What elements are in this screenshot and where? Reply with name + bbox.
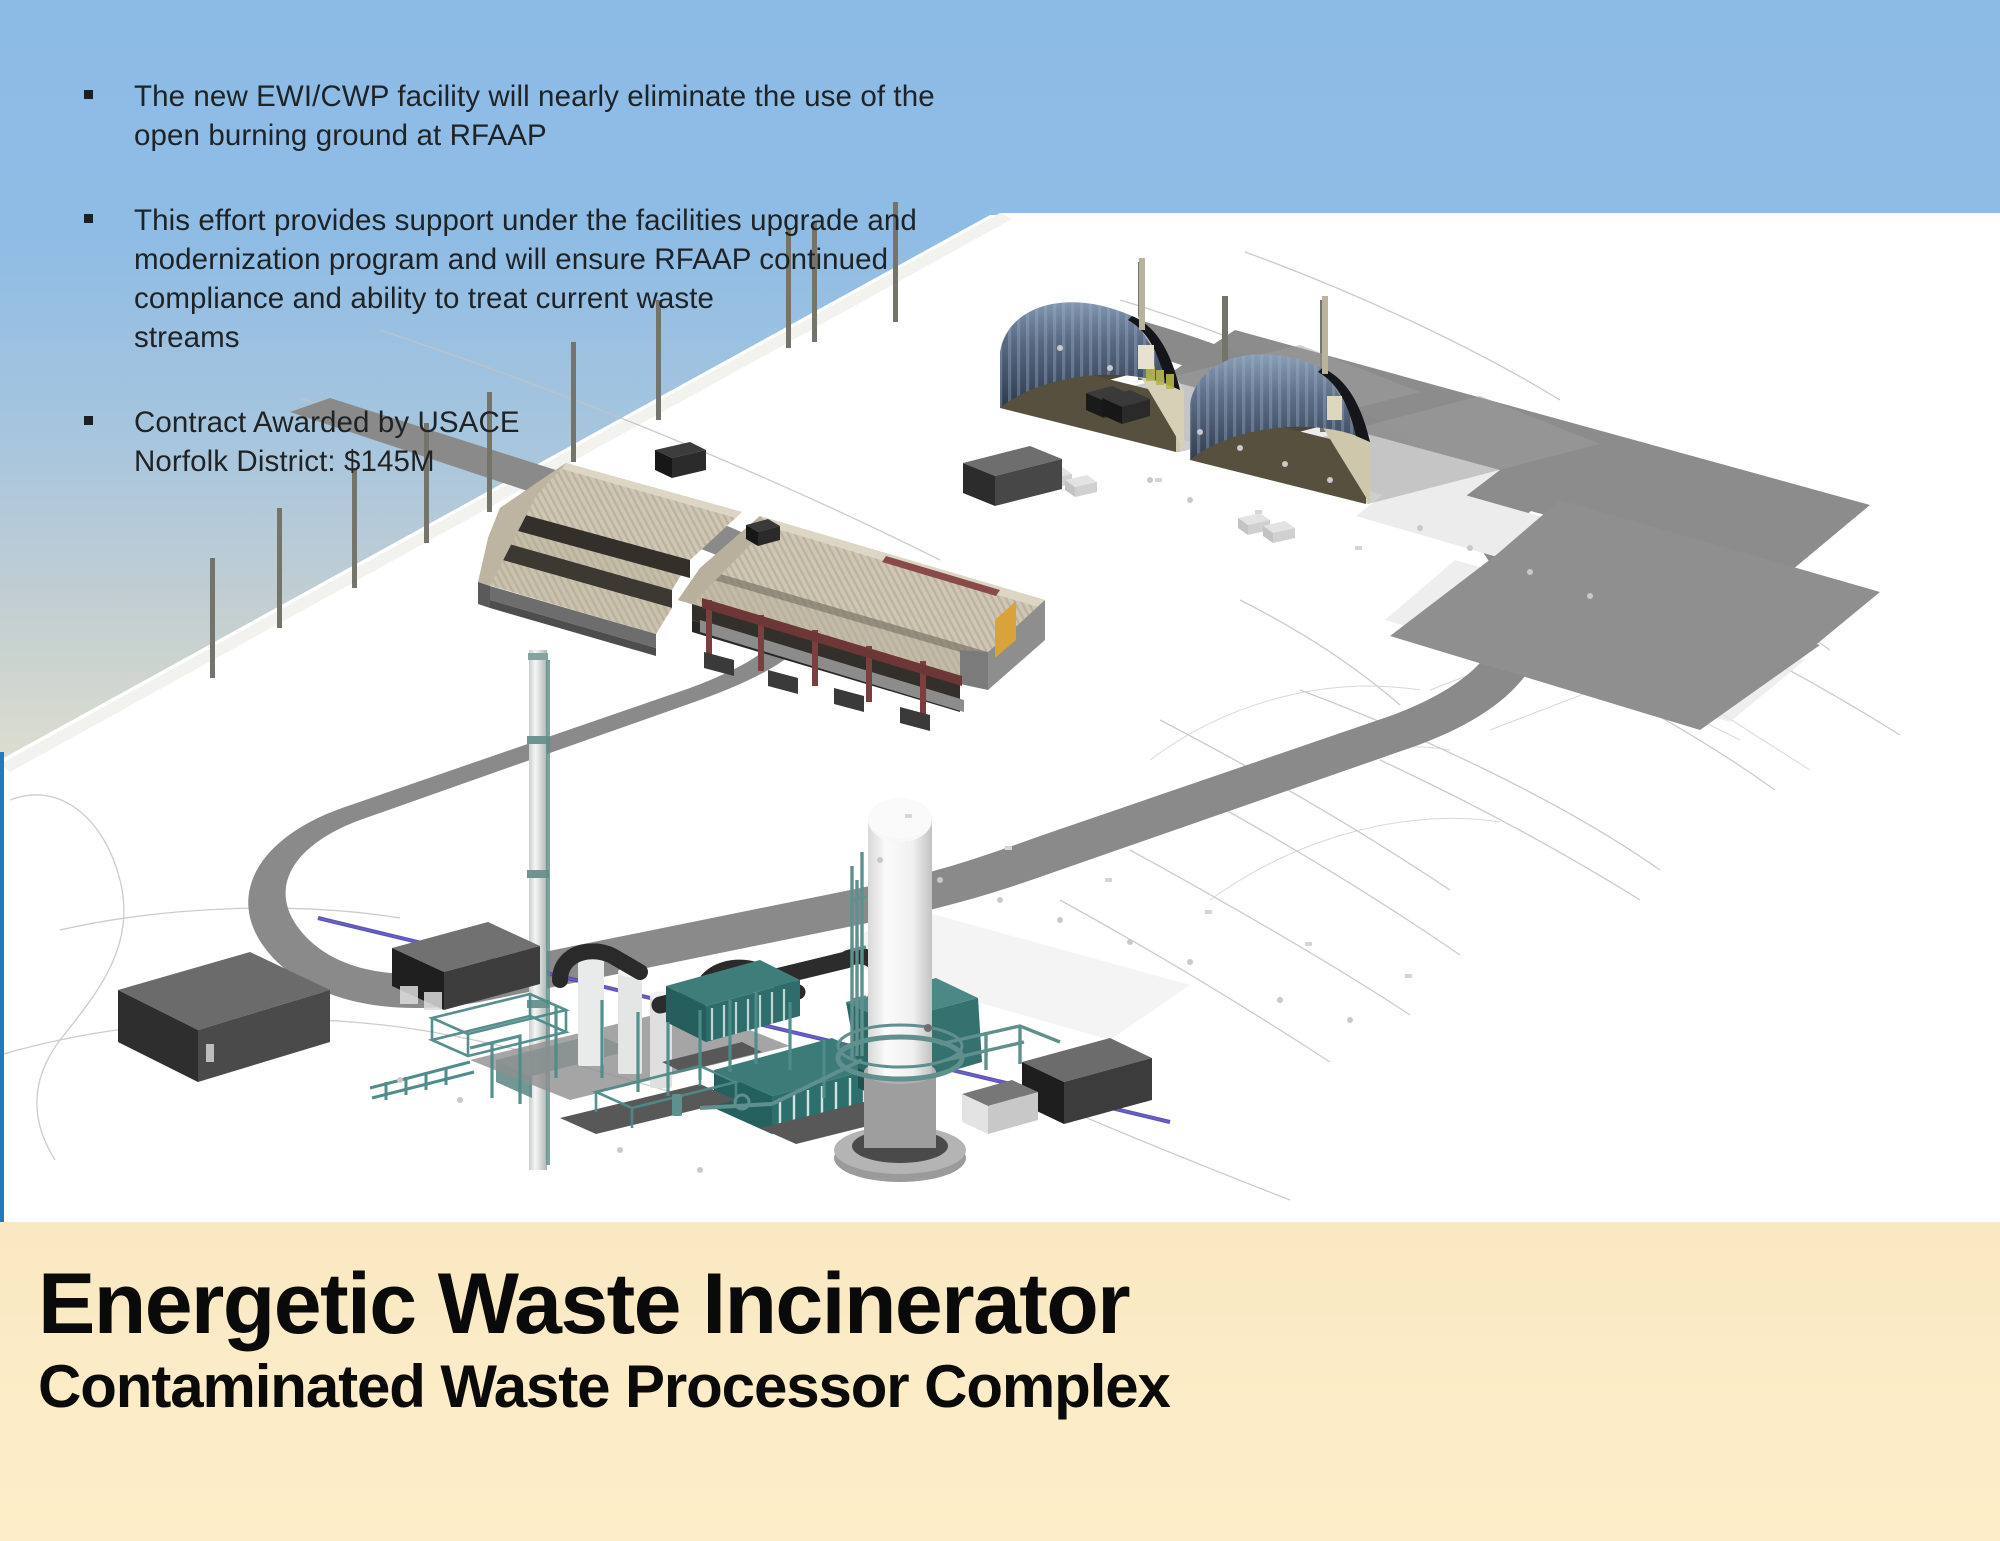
square-bullet-icon: [84, 90, 93, 99]
page-title: Energetic Waste Incinerator: [38, 1255, 1129, 1354]
bullet-line: streams: [134, 319, 952, 358]
bullet-line: Contract Awarded by USACE: [134, 404, 952, 443]
bullet-line: compliance and ability to treat current …: [134, 280, 952, 319]
bullet-line: The new EWI/CWP facility will nearly eli…: [134, 78, 952, 117]
page-subtitle: Contaminated Waste Processor Complex: [38, 1352, 1170, 1421]
title-banner: Energetic Waste Incinerator Contaminated…: [0, 1222, 2000, 1541]
bullet-line: This effort provides support under the f…: [134, 202, 952, 241]
slide-root: The new EWI/CWP facility will nearly eli…: [0, 0, 2000, 1541]
list-item: This effort provides support under the f…: [72, 202, 952, 358]
bullet-line: Norfolk District: $145M: [134, 443, 952, 482]
list-item: Contract Awarded by USACE Norfolk Distri…: [72, 404, 952, 482]
bullet-line: modernization program and will ensure RF…: [134, 241, 952, 280]
square-bullet-icon: [84, 416, 93, 425]
left-accent-rule: [0, 752, 4, 1224]
bullet-line: open burning ground at RFAAP: [134, 117, 952, 156]
square-bullet-icon: [84, 214, 93, 223]
bullet-list: The new EWI/CWP facility will nearly eli…: [72, 78, 952, 482]
list-item: The new EWI/CWP facility will nearly eli…: [72, 78, 952, 156]
